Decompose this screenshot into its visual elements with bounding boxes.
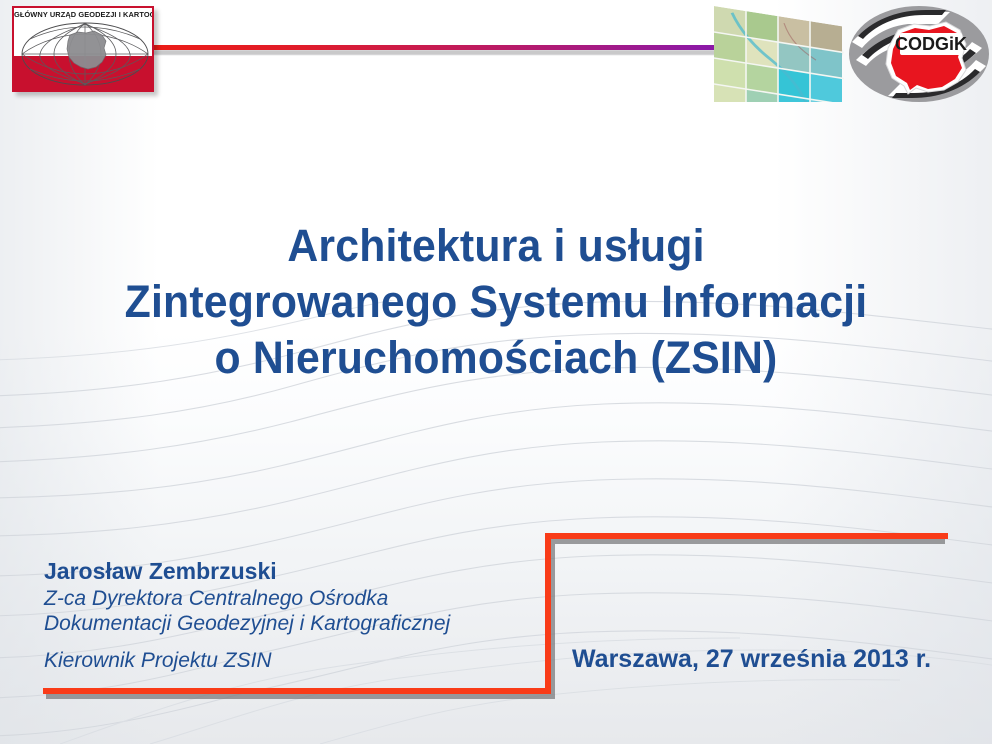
title-line-1: Architektura i usługi [25, 218, 967, 274]
author-role-line-1: Z-ca Dyrektora Centralnego Ośrodka [44, 586, 544, 611]
title-line-3: o Nieruchomościach (ZSIN) [25, 330, 967, 386]
codgik-wordmark: CODGiK [895, 34, 967, 54]
globe-graticule-poland-icon [14, 17, 154, 91]
page-title: Architektura i usługi Zintegrowanego Sys… [25, 218, 967, 386]
gugik-logo-caption: GŁÓWNY URZĄD GEODEZJI I KARTOGRAFII [14, 10, 152, 19]
title-slide: GŁÓWNY URZĄD GEODEZJI I KARTOGRAFII [0, 0, 992, 744]
map-tiles-icon [712, 2, 844, 102]
codgik-swirl-poland-icon: CODGiK [846, 2, 992, 106]
gugik-logo: GŁÓWNY URZĄD GEODEZJI I KARTOGRAFII [12, 6, 154, 92]
author-block: Jarosław Zembrzuski Z-ca Dyrektora Centr… [44, 556, 544, 673]
author-role-line-2: Dokumentacji Geodezyjnej i Kartograficzn… [44, 611, 544, 636]
title-line-2: Zintegrowanego Systemu Informacji [25, 274, 967, 330]
author-role-line-3: Kierownik Projektu ZSIN [44, 648, 544, 673]
author-name: Jarosław Zembrzuski [44, 556, 544, 586]
place-date: Warszawa, 27 września 2013 r. [572, 645, 931, 674]
